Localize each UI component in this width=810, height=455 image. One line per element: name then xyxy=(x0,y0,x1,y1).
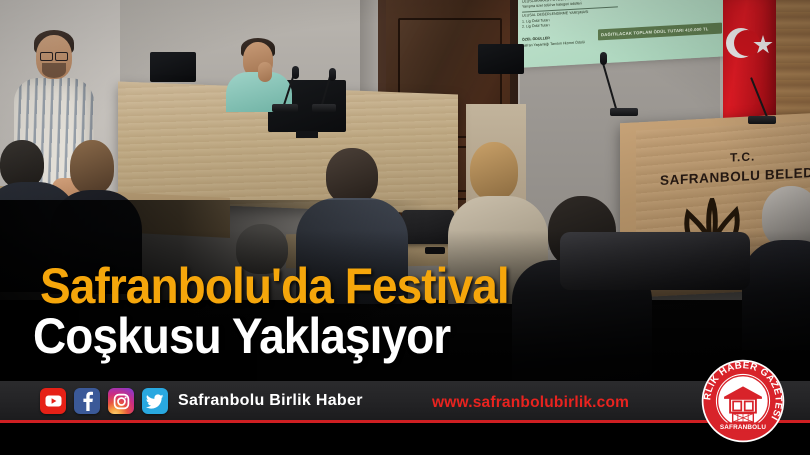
twitter-icon[interactable] xyxy=(142,388,168,414)
logo-banner: SAFRANBOLU xyxy=(720,423,766,432)
news-thumbnail-card: ULUSLARARASI FOTOĞRAF YARIŞMASI FİNAL / … xyxy=(0,0,810,455)
brand-name: Safranbolu Birlik Haber xyxy=(178,392,363,410)
headline-block: Safranbolu'da Festival Coşkusu Yaklaşıyo… xyxy=(0,262,810,360)
newspaper-logo-badge[interactable]: BİRLİK HABER GAZETESİ SAFRANBOLU xyxy=(700,358,786,444)
facebook-icon[interactable] xyxy=(74,388,100,414)
headline-line-1: Safranbolu'da Festival xyxy=(40,262,748,310)
social-links[interactable] xyxy=(40,388,168,414)
logo-banner-text: SAFRANBOLU xyxy=(720,424,766,431)
website-url[interactable]: www.safranbolubirlik.com xyxy=(432,394,629,412)
headline-line-2: Coşkusu Yaklaşıyor xyxy=(33,312,748,360)
instagram-icon[interactable] xyxy=(108,388,134,414)
youtube-icon[interactable] xyxy=(40,388,66,414)
footer-black-strip xyxy=(0,423,810,455)
